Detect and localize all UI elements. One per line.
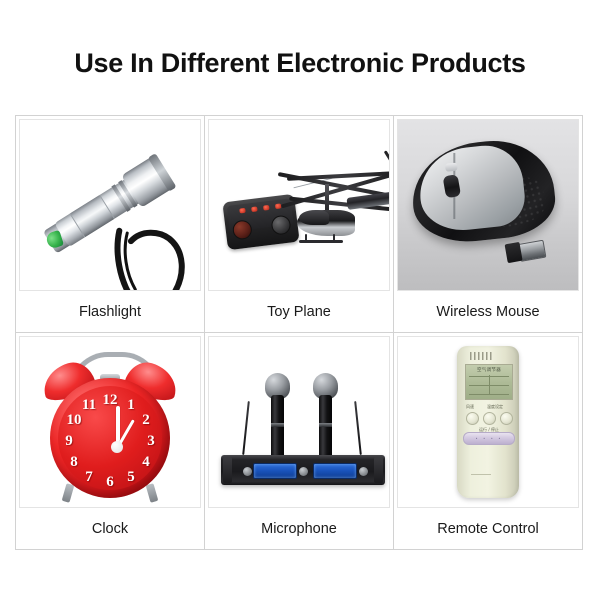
skid-strut-right — [333, 234, 335, 242]
skid-strut-left — [305, 234, 307, 242]
helicopter-canopy — [299, 210, 329, 225]
grid-cell-wireless-mouse[interactable]: Wireless Mouse — [394, 116, 583, 333]
remote-control-illustration: 空气调节器 风速 温度设定 运行 / 停止 • • • • — [398, 337, 578, 507]
receiver-antenna-left — [242, 401, 250, 455]
clock-numeral: 11 — [80, 397, 98, 413]
remote-control-icon: 空气调节器 风速 温度设定 运行 / 停止 • • • • — [457, 346, 519, 498]
remote-button-fan — [466, 412, 479, 425]
remote-button-label-temp: 温度设定 — [487, 404, 503, 410]
product-label-flashlight: Flashlight — [16, 291, 204, 332]
rack-ear-left — [223, 457, 232, 483]
product-label-remote-control: Remote Control — [394, 508, 582, 549]
receiver-rack-unit — [221, 455, 385, 485]
microphone-one-handle — [271, 395, 284, 463]
remote-button-label-fan: 风速 — [466, 404, 474, 410]
alarm-clock-icon: 12 1 2 3 4 5 6 7 8 9 10 11 — [42, 350, 178, 500]
flashlight-illustration — [20, 120, 200, 290]
grid-cell-flashlight[interactable]: Flashlight — [16, 116, 205, 333]
grid-cell-microphone[interactable]: Microphone — [205, 333, 394, 550]
microphone-two-band — [319, 423, 332, 427]
product-label-toy-plane: Toy Plane — [205, 291, 393, 332]
clock-numeral: 5 — [122, 469, 140, 485]
remote-power-strip: 运行 / 停止 • • • • — [463, 432, 515, 445]
receiver-knob-two — [299, 467, 308, 476]
dongle-housing — [505, 242, 523, 263]
microphone-system-illustration — [209, 337, 389, 507]
controller-led-four — [239, 208, 246, 214]
remote-strip-label: 运行 / 停止 — [464, 427, 514, 433]
grid-cell-remote-control[interactable]: 空气调节器 风速 温度设定 运行 / 停止 • • • • — [394, 333, 583, 550]
clock-foot-right — [146, 484, 159, 504]
clock-numeral: 7 — [80, 469, 98, 485]
product-label-wireless-mouse: Wireless Mouse — [394, 291, 582, 332]
clock-center-pivot — [111, 441, 123, 453]
clock-foot-left — [62, 484, 75, 504]
receiver-display-one — [253, 463, 297, 479]
grid-cell-toy-plane[interactable]: Toy Plane — [205, 116, 394, 333]
clock-numeral: 6 — [101, 474, 119, 490]
clock-numeral: 8 — [65, 454, 83, 470]
clock-numeral: 1 — [122, 397, 140, 413]
product-label-clock: Clock — [16, 508, 204, 549]
controller-led-two — [263, 205, 270, 211]
toy-plane-illustration — [209, 120, 389, 290]
product-grid: Flashlight — [15, 115, 583, 550]
clock-numeral: 2 — [137, 412, 155, 428]
alarm-clock-illustration: 12 1 2 3 4 5 6 7 8 9 10 11 — [20, 337, 200, 507]
product-image-remote-control: 空气调节器 风速 温度设定 运行 / 停止 • • • • — [397, 336, 579, 508]
clock-case: 12 1 2 3 4 5 6 7 8 9 10 11 — [50, 378, 170, 498]
product-image-toy-plane — [208, 119, 390, 291]
receiver-display-two — [313, 463, 357, 479]
clock-dial: 12 1 2 3 4 5 6 7 8 9 10 11 — [58, 386, 162, 490]
page-title: Use In Different Electronic Products — [0, 48, 600, 79]
flashlight-lanyard-icon — [111, 227, 198, 291]
remote-screen-text: 空气调节器 — [466, 367, 512, 373]
screen-divider — [489, 375, 490, 395]
remote-lower-detail — [471, 474, 491, 475]
remote-button-temp-up — [500, 412, 513, 425]
remote-speaker-vents — [470, 352, 492, 360]
remote-lcd-screen: 空气调节器 — [465, 364, 513, 400]
clock-numeral: 4 — [137, 454, 155, 470]
receiver-knob-one — [243, 467, 252, 476]
microphone-one-band — [271, 423, 284, 427]
clock-numeral: 9 — [60, 433, 78, 449]
remote-button-temp-down — [483, 412, 496, 425]
microphone-two-handle — [319, 395, 332, 463]
receiver-antenna-right — [354, 401, 362, 455]
rc-helicopter-icon — [281, 158, 390, 266]
receiver-knob-three — [359, 467, 368, 476]
product-image-wireless-mouse — [397, 119, 579, 291]
product-image-flashlight — [19, 119, 201, 291]
controller-led-one — [251, 206, 258, 212]
clock-numeral: 10 — [65, 412, 83, 428]
clock-numeral: 3 — [142, 433, 160, 449]
remote-strip-dots: • • • • — [464, 436, 514, 441]
product-image-microphone — [208, 336, 390, 508]
product-label-microphone: Microphone — [205, 508, 393, 549]
wireless-mouse-illustration — [398, 120, 578, 290]
mouse-dpi-button — [445, 163, 458, 172]
rack-ear-right — [374, 457, 383, 483]
product-image-clock: 12 1 2 3 4 5 6 7 8 9 10 11 — [19, 336, 201, 508]
grid-cell-clock[interactable]: 12 1 2 3 4 5 6 7 8 9 10 11 — [16, 333, 205, 550]
